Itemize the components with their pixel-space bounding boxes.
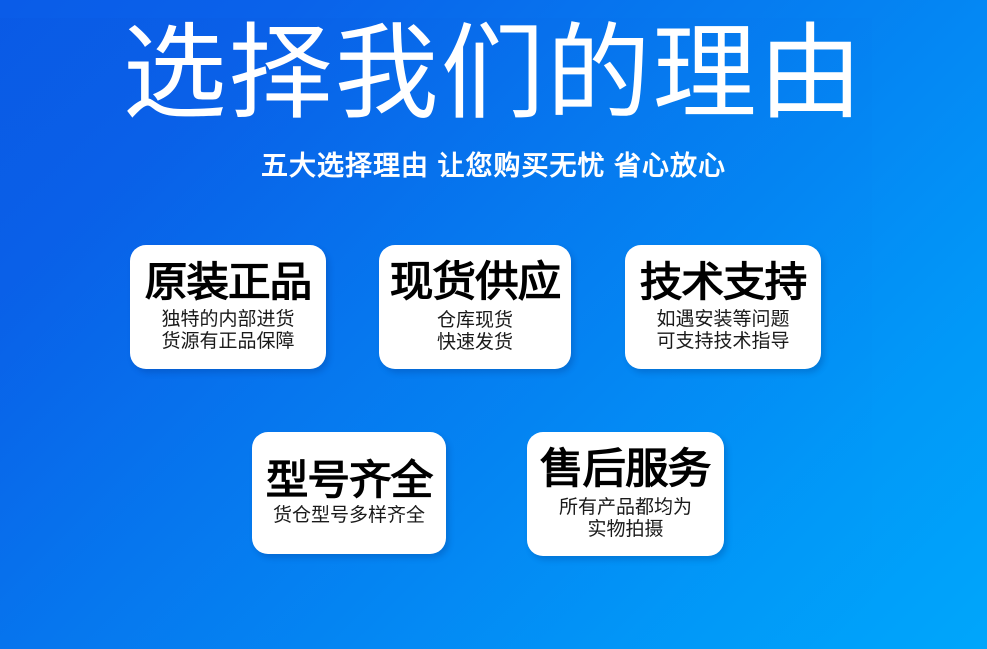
feature-card: 售后服务 所有产品都均为 实物拍摄 [527,432,724,556]
feature-card-description-line: 实物拍摄 [559,519,692,541]
feature-card-description-line: 快速发货 [437,332,513,354]
feature-card: 型号齐全 货仓型号多样齐全 [252,432,446,554]
feature-card-title: 原装正品 [145,261,311,304]
feature-card-title: 型号齐全 [266,459,432,502]
feature-card-description-line: 货仓型号多样齐全 [273,505,425,527]
feature-card-description-line: 如遇安装等问题 [656,309,789,331]
feature-card-description: 独特的内部进货 货源有正品保障 [161,309,294,353]
feature-card-description-line: 仓库现货 [437,310,513,332]
feature-card-description: 如遇安装等问题 可支持技术指导 [656,309,789,353]
feature-card-title: 售后服务 [540,447,711,491]
feature-card-description-line: 独特的内部进货 [161,309,294,331]
feature-card-description: 货仓型号多样齐全 [273,505,425,527]
banner-heading-group: 选择我们的理由 五大选择理由 让您购买无忧 省心放心 [0,0,987,183]
feature-card-description: 仓库现货 快速发货 [437,310,513,354]
page-title: 选择我们的理由 [0,0,987,132]
feature-card: 原装正品 独特的内部进货 货源有正品保障 [130,245,326,369]
feature-card: 现货供应 仓库现货 快速发货 [379,245,571,369]
feature-card-title: 技术支持 [640,261,806,304]
feature-card-description-line: 所有产品都均为 [559,497,692,519]
feature-card-description: 所有产品都均为 实物拍摄 [559,497,692,541]
feature-card: 技术支持 如遇安装等问题 可支持技术指导 [625,245,821,369]
feature-card-title: 现货供应 [390,260,561,304]
feature-card-description-line: 可支持技术指导 [656,331,789,353]
promotional-banner: 选择我们的理由 五大选择理由 让您购买无忧 省心放心 原装正品 独特的内部进货 … [0,0,987,649]
page-subtitle: 五大选择理由 让您购买无忧 省心放心 [0,132,987,182]
feature-card-description-line: 货源有正品保障 [161,331,294,353]
